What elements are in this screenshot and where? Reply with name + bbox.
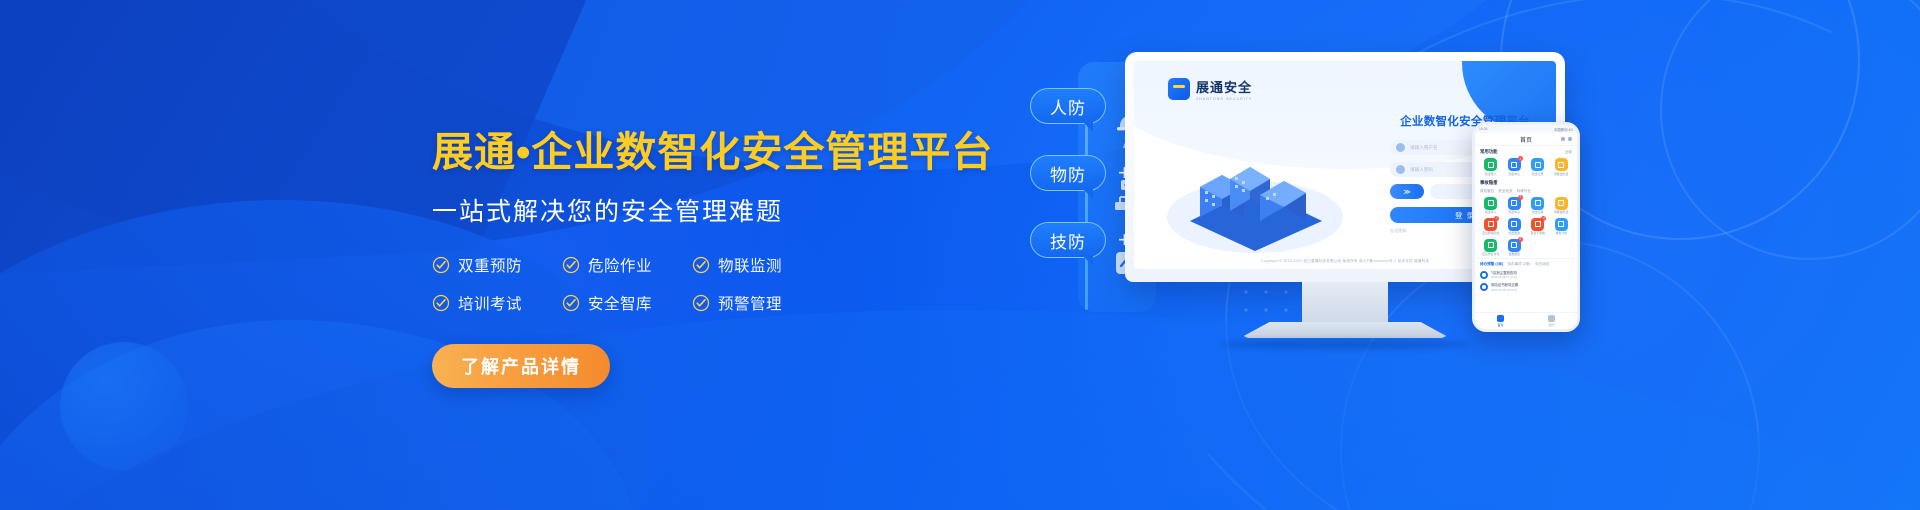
list-item-title: T区粉尘整改告知 bbox=[1491, 270, 1517, 275]
ledger-query-icon: 9 bbox=[1508, 239, 1521, 252]
hazard-record-icon bbox=[1531, 197, 1544, 210]
monitor-base bbox=[1240, 322, 1450, 338]
list-item[interactable]: 风险证书即将过期 2024-05-28 11:40:15 bbox=[1480, 282, 1572, 292]
app-icon-grid: 隐患录入 3 隐患中心 隐患记录 待整改隐患 bbox=[1480, 158, 1572, 176]
hazard-center-icon: 3 bbox=[1508, 158, 1521, 171]
check-circle-icon bbox=[692, 256, 710, 274]
tab-risk[interactable]: 风险管控 bbox=[1480, 189, 1494, 194]
check-circle-icon bbox=[692, 294, 710, 312]
user-icon bbox=[1548, 315, 1555, 322]
background-circle bbox=[60, 342, 188, 470]
badge-count: 3 bbox=[1518, 195, 1523, 200]
tab-home[interactable]: 首页 bbox=[1497, 315, 1504, 327]
app-tile[interactable]: 待整改隐患 bbox=[1551, 197, 1573, 215]
section-tabs: 风险管控 安全检查 特种作业 bbox=[1480, 189, 1572, 194]
feature-item: 双重预防 bbox=[432, 254, 562, 276]
app-tile[interactable]: 隐患记录 bbox=[1527, 158, 1549, 176]
app-label: 排查计划 bbox=[1555, 232, 1567, 235]
app-tile[interactable]: 隐患整改 bbox=[1504, 218, 1526, 236]
app-label: 隐患录入 bbox=[1485, 211, 1497, 214]
pending-hazard-icon bbox=[1555, 197, 1568, 210]
feature-item: 危险作业 bbox=[562, 254, 692, 276]
app-label: 应急作业许可 bbox=[1482, 253, 1499, 256]
phone-nav-title: 首页 bbox=[1520, 135, 1532, 144]
pending-hazard-icon bbox=[1555, 158, 1568, 171]
badge-jifang[interactable]: 技防 bbox=[1030, 222, 1106, 258]
app-label: 应急预案隐患 bbox=[1482, 232, 1499, 235]
badge-count: 3 bbox=[1518, 156, 1523, 161]
phone-todo-list: 待办预警 (3条) 待办事项 (2条) 今日动态 T区粉尘整改告知 2024-0… bbox=[1475, 258, 1577, 298]
section-title: 事故隐患 bbox=[1480, 180, 1498, 186]
badge-renfang[interactable]: 人防 bbox=[1030, 88, 1106, 124]
monitor-shadow bbox=[1220, 340, 1470, 349]
learn-more-button[interactable]: 了解产品详情 bbox=[432, 344, 610, 388]
page-title: 展通•企业数智化安全管理平台 bbox=[432, 130, 992, 175]
tab-profile[interactable]: 我的 bbox=[1548, 315, 1555, 327]
check-circle-icon bbox=[432, 256, 450, 274]
login-logo: 展通安全 ZHANTONG SECURITY bbox=[1168, 77, 1252, 101]
captcha-button[interactable]: ≫ bbox=[1390, 184, 1424, 199]
feature-item: 物联监测 bbox=[692, 254, 822, 276]
todo-tabs: 待办预警 (3条) 待办事项 (2条) 今日动态 bbox=[1480, 262, 1572, 267]
app-tile[interactable]: 隐患录入 bbox=[1480, 197, 1502, 215]
emergency-plan-icon: 2 bbox=[1484, 218, 1497, 231]
phone-section-incidents: 事故隐患 风险管控 安全检查 特种作业 隐患录入 3 bbox=[1475, 177, 1577, 258]
rail-connector bbox=[1085, 110, 1088, 310]
status-signal: 中国移动 4G bbox=[1554, 127, 1573, 132]
feature-label: 安全智库 bbox=[588, 292, 652, 314]
badge-count: 2 bbox=[1494, 216, 1499, 221]
phone-section-common: 常用功能 全部 隐患录入 3 隐患中心 bbox=[1475, 146, 1577, 177]
badge-count: 9 bbox=[1518, 237, 1523, 242]
list-item-title: 风险证书即将过期 bbox=[1491, 282, 1518, 287]
check-circle-icon bbox=[432, 294, 450, 312]
tab-special-ops[interactable]: 特种作业 bbox=[1517, 189, 1531, 194]
status-time: 10:24 bbox=[1479, 127, 1488, 131]
hazard-center-icon: 3 bbox=[1508, 197, 1521, 210]
hero-visual: 人防 + 物防 + 技防 bbox=[1010, 0, 1920, 510]
app-label: 隐患录入 bbox=[1485, 173, 1497, 176]
feature-list: 双重预防 危险作业 物联监测 bbox=[432, 254, 822, 314]
work-permit-icon bbox=[1484, 239, 1497, 252]
feature-label: 双重预防 bbox=[458, 254, 522, 276]
app-tile[interactable]: 4 复查不合格 bbox=[1527, 218, 1549, 236]
more-icon[interactable] bbox=[1561, 137, 1565, 141]
section-header: 常用功能 全部 bbox=[1480, 149, 1572, 155]
check-circle-icon bbox=[562, 256, 580, 274]
feature-label: 物联监测 bbox=[718, 254, 782, 276]
app-tile[interactable]: 隐患记录 bbox=[1527, 197, 1549, 215]
app-tile[interactable]: 隐患录入 bbox=[1480, 158, 1502, 176]
recheck-failed-icon: 4 bbox=[1531, 218, 1544, 231]
todo-tab-tasks[interactable]: 待办事项 (2条) bbox=[1507, 262, 1530, 267]
tab-inspection[interactable]: 安全检查 bbox=[1498, 189, 1512, 194]
brand-name: 展通安全 bbox=[1196, 77, 1252, 96]
todo-tab-today[interactable]: 今日动态 bbox=[1535, 262, 1549, 267]
app-label: 台账报查 bbox=[1508, 253, 1520, 256]
app-label: 复查不合格 bbox=[1531, 232, 1545, 235]
page-subtitle: 一站式解决您的安全管理难题 bbox=[432, 192, 992, 228]
forgot-password-link[interactable]: 忘记密码 bbox=[1390, 228, 1407, 234]
app-label: 隐患中心 bbox=[1508, 211, 1520, 214]
app-tile[interactable]: 应急作业许可 bbox=[1480, 239, 1502, 257]
section-action[interactable]: 全部 bbox=[1565, 150, 1572, 155]
hero-banner: 展通•企业数智化安全管理平台 一站式解决您的安全管理难题 双重预防 危险作业 bbox=[0, 0, 1920, 510]
app-label: 隐患中心 bbox=[1508, 173, 1520, 176]
app-tile[interactable]: 2 应急预案隐患 bbox=[1480, 218, 1502, 236]
badge-label: 技防 bbox=[1050, 228, 1086, 253]
check-circle-icon bbox=[562, 294, 580, 312]
feature-item: 安全智库 bbox=[562, 292, 692, 314]
badge-count: 4 bbox=[1541, 216, 1546, 221]
phone-nav-actions[interactable] bbox=[1561, 137, 1572, 141]
list-item-time: 2024-05-28 17:41:42 bbox=[1491, 275, 1517, 279]
section-title: 常用功能 bbox=[1480, 149, 1498, 155]
feature-item: 预警管理 bbox=[692, 292, 822, 314]
badge-label: 人防 bbox=[1050, 94, 1086, 119]
app-tile[interactable]: 9 台账报查 bbox=[1504, 239, 1526, 257]
feature-row: 双重预防 危险作业 物联监测 bbox=[432, 254, 822, 276]
list-item[interactable]: T区粉尘整改告知 2024-05-28 17:41:42 bbox=[1480, 270, 1572, 280]
feature-label: 预警管理 bbox=[718, 292, 782, 314]
brand-mark-icon bbox=[1168, 78, 1190, 100]
tab-label: 我的 bbox=[1548, 323, 1554, 327]
feature-row: 培训考试 安全智库 预警管理 bbox=[432, 292, 822, 314]
feature-label: 危险作业 bbox=[588, 254, 652, 276]
hazard-entry-icon bbox=[1484, 197, 1497, 210]
app-label: 隐患记录 bbox=[1532, 211, 1544, 214]
mobile-phone-mockup: 10:24 中国移动 4G 首页 常用功能 全部 bbox=[1472, 122, 1580, 332]
feature-item: 培训考试 bbox=[432, 292, 562, 314]
todo-tab-alerts[interactable]: 待办预警 (3条) bbox=[1480, 262, 1503, 267]
phone-nav-bar: 首页 bbox=[1475, 133, 1577, 146]
badge-wufang[interactable]: 物防 bbox=[1030, 155, 1106, 191]
section-header: 事故隐患 bbox=[1480, 180, 1572, 186]
feature-label: 培训考试 bbox=[458, 292, 522, 314]
list-item-time: 2024-05-28 11:40:15 bbox=[1491, 288, 1518, 292]
username-placeholder: 请输入用户名 bbox=[1410, 145, 1438, 151]
password-placeholder: 请输入密码 bbox=[1410, 167, 1433, 173]
home-icon bbox=[1497, 315, 1504, 322]
hazard-entry-icon bbox=[1484, 158, 1497, 171]
monitor-neck bbox=[1302, 282, 1388, 322]
hero-copy: 展通•企业数智化安全管理平台 一站式解决您的安全管理难题 双重预防 危险作业 bbox=[432, 130, 992, 388]
status-ring-icon bbox=[1480, 283, 1488, 291]
phone-status-bar: 10:24 中国移动 4G bbox=[1475, 125, 1577, 133]
gear-icon[interactable] bbox=[1568, 137, 1572, 141]
phone-tab-bar: 首页 我的 bbox=[1475, 312, 1577, 329]
badge-label: 物防 bbox=[1050, 161, 1086, 186]
isometric-city-illustration bbox=[1160, 147, 1350, 257]
status-ring-icon bbox=[1480, 271, 1488, 279]
app-label: 隐患整改 bbox=[1508, 232, 1520, 235]
app-tile[interactable]: 排查计划 bbox=[1551, 218, 1573, 236]
app-tile[interactable]: 3 隐患中心 bbox=[1504, 158, 1526, 176]
app-label: 待整改隐患 bbox=[1554, 173, 1568, 176]
hazard-record-icon bbox=[1531, 158, 1544, 171]
inspection-plan-icon bbox=[1555, 218, 1568, 231]
app-label: 待整改隐患 bbox=[1554, 211, 1568, 214]
hazard-rectify-icon bbox=[1508, 218, 1521, 231]
user-icon bbox=[1396, 143, 1405, 152]
app-tile[interactable]: 待整改隐患 bbox=[1551, 158, 1573, 176]
app-label: 隐患记录 bbox=[1532, 173, 1544, 176]
tab-label: 首页 bbox=[1497, 323, 1503, 327]
brand-tagline: ZHANTONG SECURITY bbox=[1196, 97, 1252, 101]
app-icon-grid: 隐患录入 3 隐患中心 隐患记录 待整改隐患 bbox=[1480, 197, 1572, 257]
lock-icon bbox=[1396, 165, 1405, 174]
app-tile[interactable]: 3 隐患中心 bbox=[1504, 197, 1526, 215]
